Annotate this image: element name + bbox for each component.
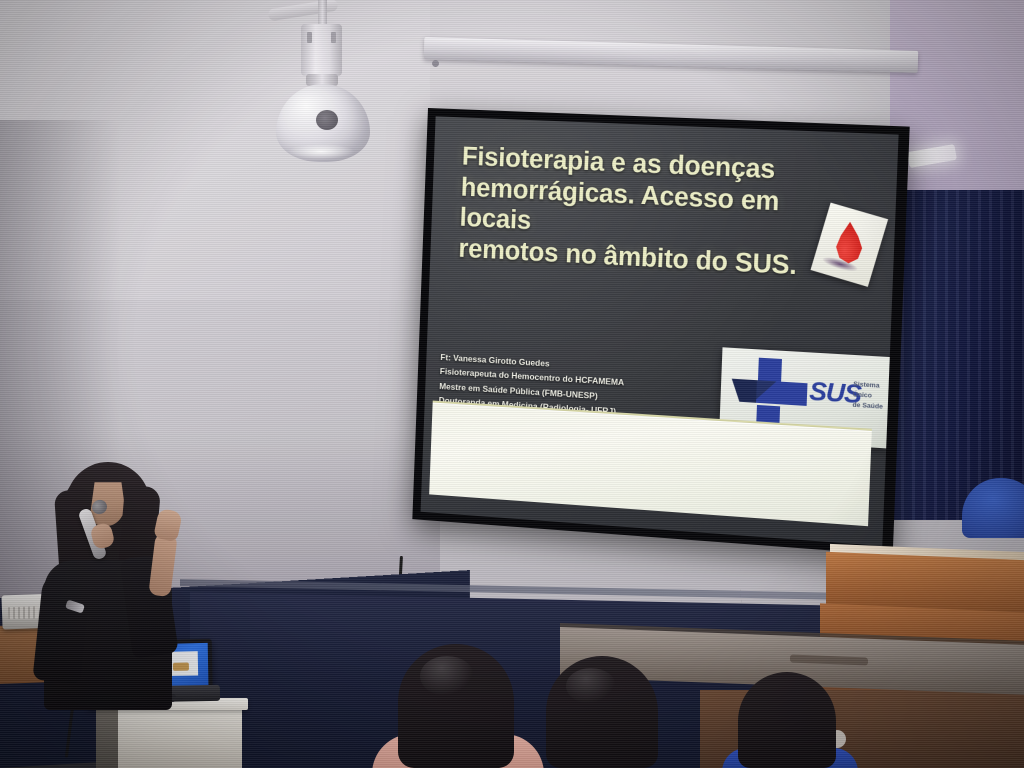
- stage-curtain: [890, 190, 1024, 520]
- projection-screen: Fisioterapia e as doenças hemorrágicas. …: [412, 108, 909, 555]
- podium-side-panel: [96, 708, 118, 768]
- blood-drop-shape: [833, 221, 866, 264]
- sus-tagline: Sistema Único de Saúde: [852, 380, 884, 413]
- lamp-glow: [288, 144, 354, 159]
- laptop-screen-thumbnail-right: [168, 651, 198, 676]
- audience-member-3: [738, 672, 836, 768]
- presentation-photo-scene: Fisioterapia e as doenças hemorrágicas. …: [0, 0, 1024, 768]
- slide-title: Fisioterapia e as doenças hemorrágicas. …: [458, 141, 855, 284]
- presentation-slide: Fisioterapia e as doenças hemorrágicas. …: [421, 116, 899, 546]
- sus-tagline-line-3: de Saúde: [852, 400, 883, 412]
- lamp-bulb: [316, 110, 338, 130]
- audience-member-1-hair-highlight: [420, 656, 474, 696]
- lamp-housing: [301, 24, 342, 76]
- audience-member-2-hair-highlight: [566, 668, 616, 704]
